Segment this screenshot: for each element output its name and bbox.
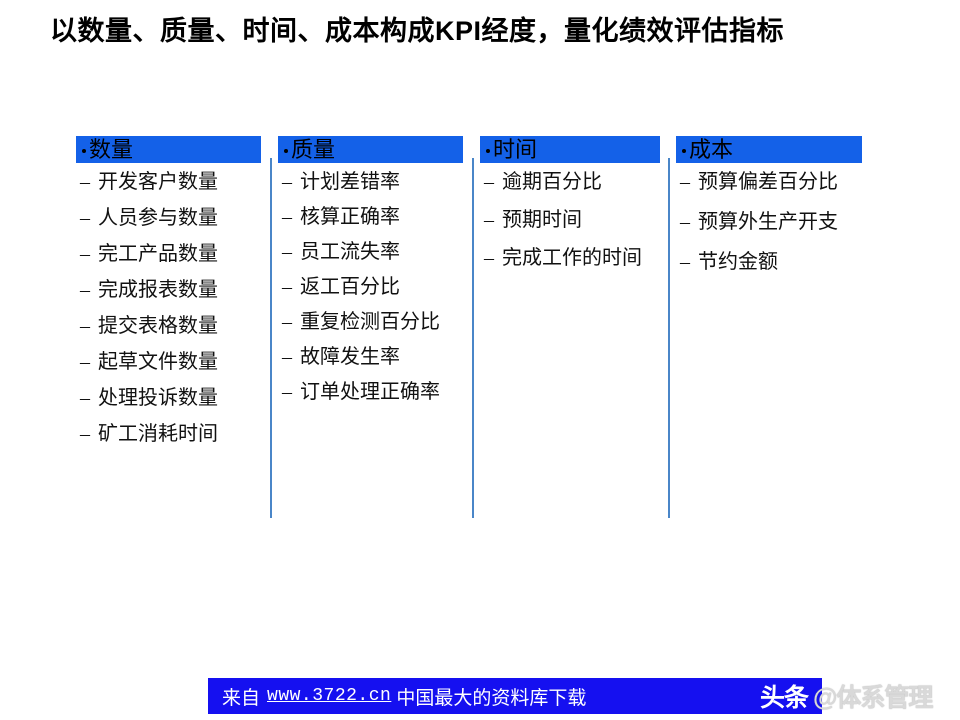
column-header-label: 成本: [689, 138, 733, 162]
list-item-label: 完成工作的时间: [502, 245, 670, 272]
dash-marker-icon: –: [80, 385, 90, 412]
column-divider: [472, 158, 474, 518]
dash-marker-icon: –: [484, 245, 494, 272]
list-item-label: 提交表格数量: [98, 313, 272, 340]
bullet-dot-icon: [682, 149, 686, 153]
list-item: – 完成工作的时间: [480, 245, 670, 272]
list-item: – 提交表格数量: [76, 313, 272, 340]
list-item-label: 人员参与数量: [98, 205, 272, 232]
kpi-item-list: – 计划差错率 – 核算正确率 – 员工流失率 – 返工百分比 – 重复检测百分…: [278, 163, 474, 406]
list-item: – 逾期百分比: [480, 169, 670, 196]
list-item: – 计划差错率: [278, 169, 474, 196]
kpi-item-list: – 逾期百分比 – 预期时间 – 完成工作的时间: [480, 163, 670, 272]
list-item: – 完成报表数量: [76, 277, 272, 304]
dash-marker-icon: –: [80, 349, 90, 376]
kpi-columns-container: 数量 – 开发客户数量 – 人员参与数量 – 完工产品数量 – 完成报表数量 –…: [0, 136, 960, 526]
kpi-item-list: – 开发客户数量 – 人员参与数量 – 完工产品数量 – 完成报表数量 – 提交…: [76, 163, 272, 448]
list-item: – 重复检测百分比: [278, 309, 474, 336]
list-item: – 开发客户数量: [76, 169, 272, 196]
toutiao-logo: 头条: [760, 678, 808, 714]
list-item-label: 起草文件数量: [98, 349, 272, 376]
list-item: – 预期时间: [480, 207, 670, 234]
list-item-label: 核算正确率: [300, 204, 474, 231]
footer-source-text: 来自 www.3722.cn 中国最大的资料库下载: [222, 678, 586, 714]
dash-marker-icon: –: [282, 309, 292, 336]
list-item-label: 预算偏差百分比: [698, 169, 876, 196]
dash-marker-icon: –: [80, 277, 90, 304]
list-item-label: 完成报表数量: [98, 277, 272, 304]
list-item: – 员工流失率: [278, 239, 474, 266]
list-item: – 故障发生率: [278, 344, 474, 371]
list-item-label: 订单处理正确率: [300, 379, 474, 406]
list-item-label: 预期时间: [502, 207, 670, 234]
dash-marker-icon: –: [282, 239, 292, 266]
dash-marker-icon: –: [282, 379, 292, 406]
dash-marker-icon: –: [282, 274, 292, 301]
bullet-dot-icon: [284, 149, 288, 153]
dash-marker-icon: –: [80, 205, 90, 232]
list-item-label: 矿工消耗时间: [98, 421, 272, 448]
bullet-dot-icon: [82, 149, 86, 153]
column-header-quantity: 数量: [76, 136, 261, 163]
column-divider: [668, 158, 670, 518]
watermark: 头条 @体系管理: [760, 676, 932, 716]
column-header-time: 时间: [480, 136, 660, 163]
dash-marker-icon: –: [80, 169, 90, 196]
page-title: 以数量、质量、时间、成本构成KPI经度，量化绩效评估指标: [50, 12, 920, 50]
list-item: – 起草文件数量: [76, 349, 272, 376]
list-item: – 处理投诉数量: [76, 385, 272, 412]
dash-marker-icon: –: [282, 204, 292, 231]
column-header-label: 时间: [493, 138, 537, 162]
column-divider: [270, 158, 272, 518]
list-item-label: 返工百分比: [300, 274, 474, 301]
kpi-column-cost: 成本 – 预算偏差百分比 – 预算外生产开支 – 节约金额: [676, 136, 876, 526]
list-item: – 订单处理正确率: [278, 379, 474, 406]
list-item-label: 预算外生产开支: [698, 209, 876, 236]
list-item-label: 重复检测百分比: [300, 309, 474, 336]
dash-marker-icon: –: [680, 209, 690, 236]
dash-marker-icon: –: [80, 313, 90, 340]
footer-prefix: 来自: [222, 683, 260, 710]
list-item-label: 逾期百分比: [502, 169, 670, 196]
kpi-column-quality: 质量 – 计划差错率 – 核算正确率 – 员工流失率 – 返工百分比 – 重复检…: [278, 136, 474, 526]
kpi-column-time: 时间 – 逾期百分比 – 预期时间 – 完成工作的时间: [480, 136, 670, 526]
column-header-label: 数量: [89, 138, 133, 162]
list-item-label: 故障发生率: [300, 344, 474, 371]
dash-marker-icon: –: [680, 169, 690, 196]
bullet-dot-icon: [486, 149, 490, 153]
list-item-label: 处理投诉数量: [98, 385, 272, 412]
list-item: – 矿工消耗时间: [76, 421, 272, 448]
column-header-cost: 成本: [676, 136, 862, 163]
list-item-label: 员工流失率: [300, 239, 474, 266]
footer-bar: 来自 www.3722.cn 中国最大的资料库下载: [208, 678, 822, 714]
list-item: – 返工百分比: [278, 274, 474, 301]
list-item-label: 计划差错率: [300, 169, 474, 196]
list-item: – 预算偏差百分比: [676, 169, 876, 196]
dash-marker-icon: –: [80, 421, 90, 448]
list-item-label: 完工产品数量: [98, 241, 272, 268]
list-item: – 节约金额: [676, 249, 876, 276]
footer-suffix: 中国最大的资料库下载: [396, 683, 586, 710]
list-item: – 完工产品数量: [76, 241, 272, 268]
list-item-label: 开发客户数量: [98, 169, 272, 196]
column-header-label: 质量: [291, 138, 335, 162]
list-item: – 人员参与数量: [76, 205, 272, 232]
dash-marker-icon: –: [484, 207, 494, 234]
list-item-label: 节约金额: [698, 249, 876, 276]
list-item: – 核算正确率: [278, 204, 474, 231]
footer-url-link[interactable]: www.3722.cn: [267, 686, 391, 706]
dash-marker-icon: –: [282, 344, 292, 371]
column-header-quality: 质量: [278, 136, 463, 163]
watermark-handle: @体系管理: [813, 678, 932, 714]
dash-marker-icon: –: [484, 169, 494, 196]
dash-marker-icon: –: [680, 249, 690, 276]
dash-marker-icon: –: [80, 241, 90, 268]
dash-marker-icon: –: [282, 169, 292, 196]
kpi-item-list: – 预算偏差百分比 – 预算外生产开支 – 节约金额: [676, 163, 876, 276]
kpi-column-quantity: 数量 – 开发客户数量 – 人员参与数量 – 完工产品数量 – 完成报表数量 –…: [76, 136, 272, 526]
list-item: – 预算外生产开支: [676, 209, 876, 236]
